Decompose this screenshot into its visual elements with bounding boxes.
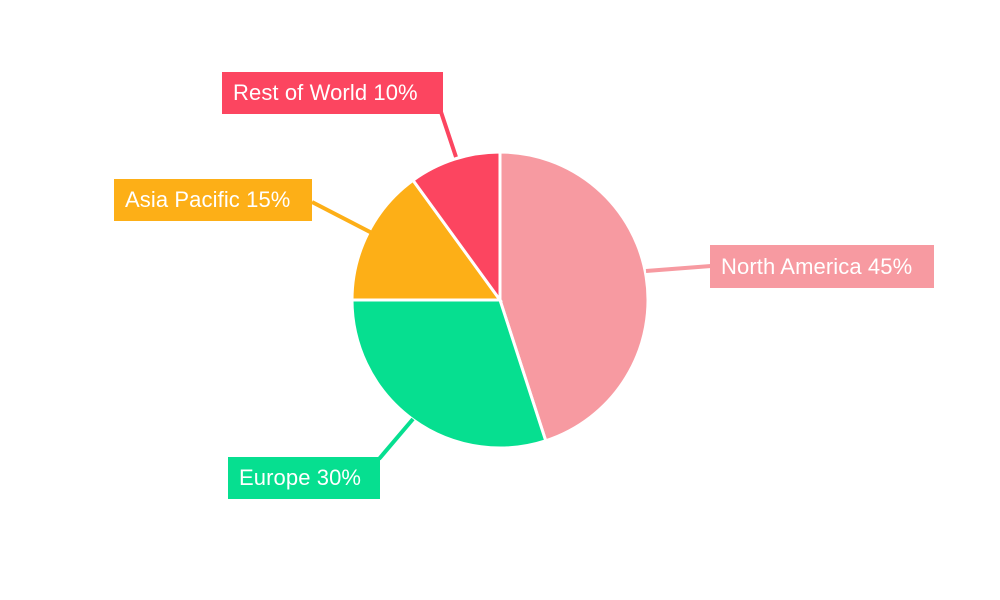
pie-label-rest-of-world-text: Rest of World 10% bbox=[233, 82, 418, 104]
leader-line-asia-pacific bbox=[312, 202, 372, 233]
pie-chart-canvas: North America 45% Europe 30% Asia Pacifi… bbox=[0, 0, 1000, 600]
pie-label-europe-text: Europe 30% bbox=[239, 467, 361, 489]
pie-label-north-america[interactable]: North America 45% bbox=[710, 245, 934, 288]
pie-chart-svg bbox=[0, 0, 1000, 600]
pie-label-north-america-text: North America 45% bbox=[721, 256, 912, 278]
leader-line-europe bbox=[379, 419, 413, 459]
pie-label-asia-pacific-text: Asia Pacific 15% bbox=[125, 189, 290, 211]
pie-label-rest-of-world[interactable]: Rest of World 10% bbox=[222, 72, 443, 114]
leader-line-north-america bbox=[646, 266, 711, 271]
pie-label-europe[interactable]: Europe 30% bbox=[228, 457, 380, 499]
pie-label-asia-pacific[interactable]: Asia Pacific 15% bbox=[114, 179, 312, 221]
pie-slices bbox=[352, 152, 648, 448]
leader-line-rest-of-world bbox=[441, 112, 456, 157]
